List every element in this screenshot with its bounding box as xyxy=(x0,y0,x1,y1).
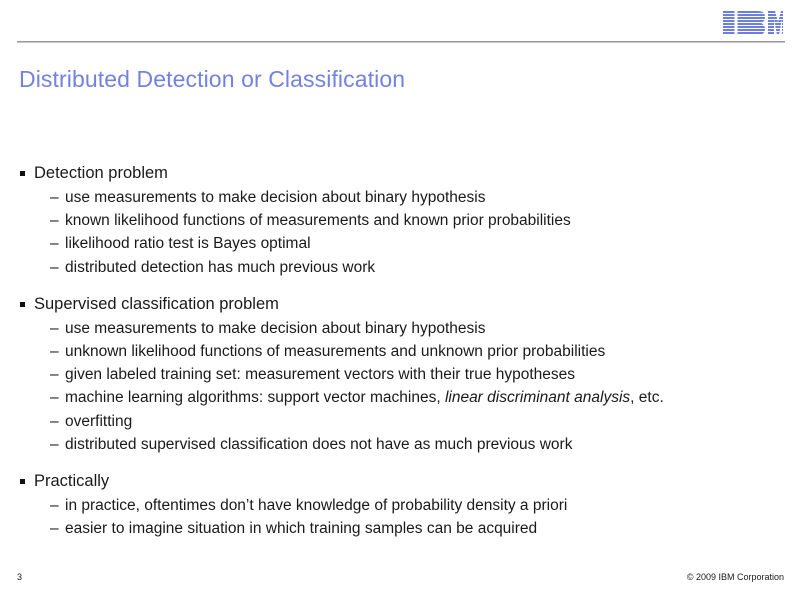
sub-bullet-label: unknown likelihood functions of measurem… xyxy=(65,343,605,360)
sub-bullet-item: – given labeled training set: measuremen… xyxy=(19,363,780,386)
sub-bullet-label-italic: linear discriminant analysis xyxy=(445,389,630,406)
dash-bullet-icon: – xyxy=(50,186,59,209)
sub-bullet-item: – use measurements to make decision abou… xyxy=(19,186,780,209)
ibm-logo xyxy=(723,11,783,35)
sub-bullet-list: – use measurements to make decision abou… xyxy=(19,317,780,456)
sub-bullet-item: – use measurements to make decision abou… xyxy=(19,317,780,340)
sub-bullet-label: use measurements to make decision about … xyxy=(65,189,485,206)
dash-bullet-icon: – xyxy=(50,433,59,456)
sub-bullet-item: – likelihood ratio test is Bayes optimal xyxy=(19,232,780,255)
sub-bullet-label: in practice, oftentimes don’t have knowl… xyxy=(65,497,567,514)
dash-bullet-icon: – xyxy=(50,317,59,340)
sub-bullet-label: distributed detection has much previous … xyxy=(65,259,375,276)
sub-bullet-list: – in practice, oftentimes don’t have kno… xyxy=(19,494,780,540)
header-divider xyxy=(17,41,785,43)
sub-bullet-label: easier to imagine situation in which tra… xyxy=(65,520,537,537)
sub-bullet-label-post: , etc. xyxy=(630,389,664,406)
bullet-group-practically: Practically – in practice, oftentimes do… xyxy=(19,470,780,540)
bullet-heading-label: Detection problem xyxy=(34,164,168,182)
dash-bullet-icon: – xyxy=(50,494,59,517)
sub-bullet-label-pre: machine learning algorithms: support vec… xyxy=(65,389,445,406)
dash-bullet-icon: – xyxy=(50,256,59,279)
bullet-heading-label: Practically xyxy=(34,472,109,490)
slide: Distributed Detection or Classification … xyxy=(0,0,800,599)
sub-bullet-item: – known likelihood functions of measurem… xyxy=(19,209,780,232)
copyright-notice: © 2009 IBM Corporation xyxy=(687,572,784,583)
sub-bullet-item: – easier to imagine situation in which t… xyxy=(19,517,780,540)
sub-bullet-list: – use measurements to make decision abou… xyxy=(19,186,780,279)
sub-bullet-item: – distributed supervised classification … xyxy=(19,433,780,456)
dash-bullet-icon: – xyxy=(50,340,59,363)
dash-bullet-icon: – xyxy=(50,363,59,386)
page-number: 3 xyxy=(17,572,22,583)
bullet-heading: Practically xyxy=(19,470,780,493)
sub-bullet-label: likelihood ratio test is Bayes optimal xyxy=(65,235,311,252)
page-title: Distributed Detection or Classification xyxy=(19,65,405,93)
sub-bullet-label: overfitting xyxy=(65,413,132,430)
bullet-group-supervised-classification: Supervised classification problem – use … xyxy=(19,293,780,456)
bullet-heading: Supervised classification problem xyxy=(19,293,780,316)
sub-bullet-item: – machine learning algorithms: support v… xyxy=(19,386,780,409)
square-bullet-icon xyxy=(20,479,25,484)
square-bullet-icon xyxy=(20,302,25,307)
bullet-heading: Detection problem xyxy=(19,162,780,185)
sub-bullet-item: – distributed detection has much previou… xyxy=(19,256,780,279)
sub-bullet-label: distributed supervised classification do… xyxy=(65,436,572,453)
dash-bullet-icon: – xyxy=(50,209,59,232)
sub-bullet-label: use measurements to make decision about … xyxy=(65,320,485,337)
dash-bullet-icon: – xyxy=(50,232,59,255)
sub-bullet-item: – overfitting xyxy=(19,410,780,433)
square-bullet-icon xyxy=(20,171,25,176)
dash-bullet-icon: – xyxy=(50,410,59,433)
dash-bullet-icon: – xyxy=(50,386,59,409)
ibm-logo-svg xyxy=(723,11,783,35)
slide-body: Detection problem – use measurements to … xyxy=(19,162,780,540)
bullet-heading-label: Supervised classification problem xyxy=(34,295,279,313)
sub-bullet-item: – unknown likelihood functions of measur… xyxy=(19,340,780,363)
sub-bullet-label: given labeled training set: measurement … xyxy=(65,366,575,383)
dash-bullet-icon: – xyxy=(50,517,59,540)
sub-bullet-item: – in practice, oftentimes don’t have kno… xyxy=(19,494,780,517)
bullet-group-detection-problem: Detection problem – use measurements to … xyxy=(19,162,780,279)
sub-bullet-label: known likelihood functions of measuremen… xyxy=(65,212,571,229)
